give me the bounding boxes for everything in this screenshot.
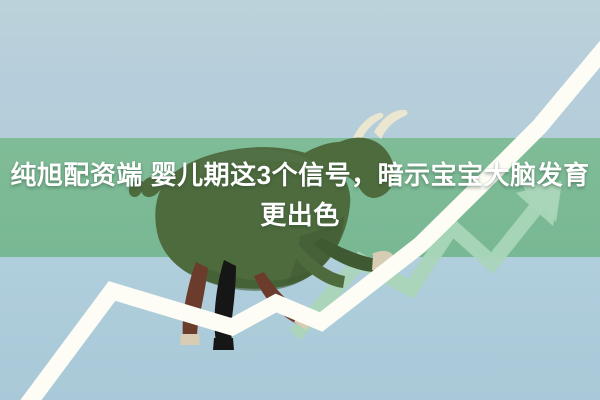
- illustration-banner: 纯旭配资端 婴儿期这3个信号，暗示宝宝大脑发育 更出色: [0, 0, 600, 400]
- white-trend-line: [0, 0, 600, 400]
